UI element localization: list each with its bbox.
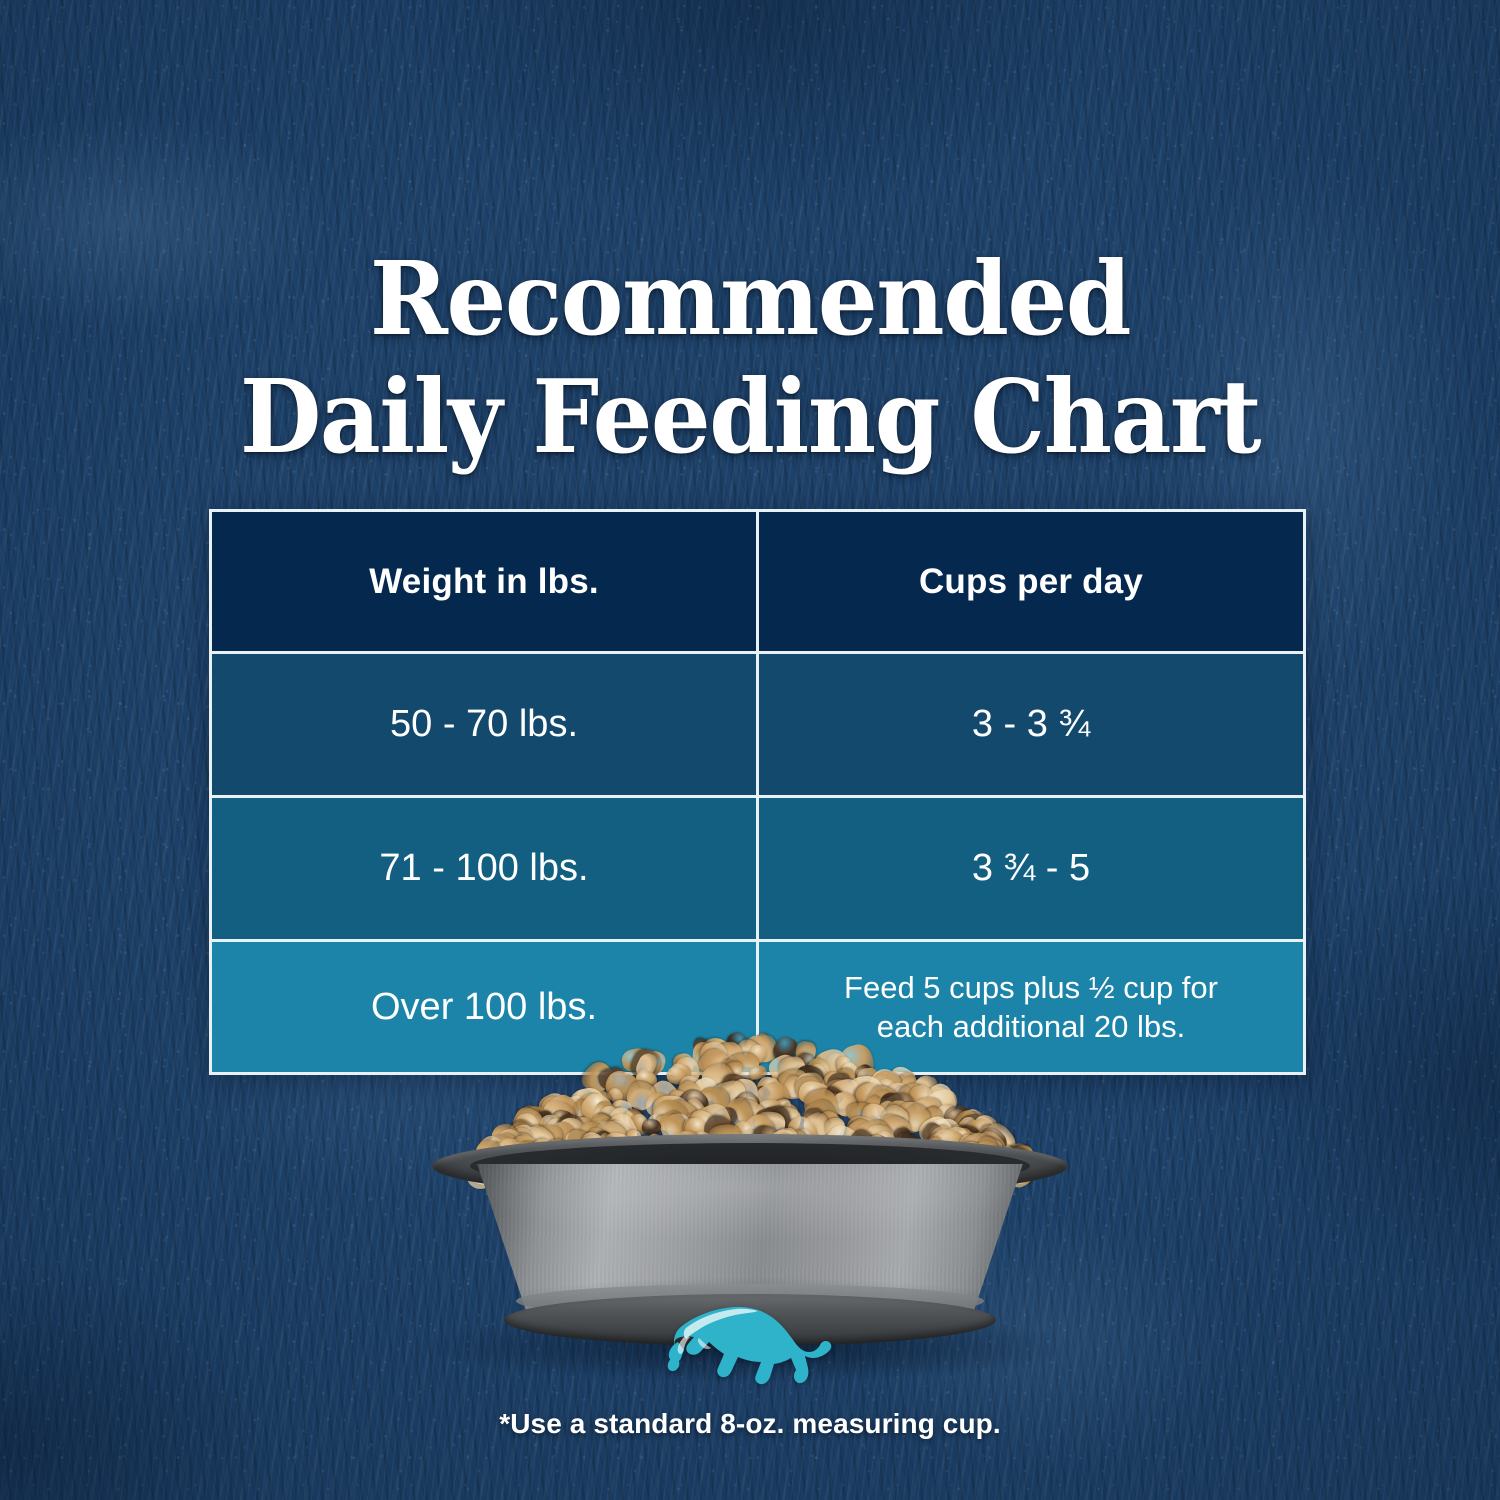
footnote-text: *Use a standard 8-oz. measuring cup.	[0, 1408, 1500, 1440]
cell-weight-range: 71 - 100 lbs.	[212, 798, 756, 939]
feeding-chart-graphic: Recommended Daily Feeding Chart Weight i…	[0, 0, 1500, 1500]
dog-bowl-product-image	[0, 1030, 1500, 1360]
page-title: Recommended Daily Feeding Chart	[53, 240, 1448, 476]
feeding-chart-table: Weight in lbs. Cups per day 50 - 70 lbs.…	[209, 509, 1306, 1075]
table-row: 71 - 100 lbs. 3 ¾ - 5	[212, 795, 1303, 939]
dog-bowl	[432, 1134, 1068, 1344]
header-weight: Weight in lbs.	[212, 512, 756, 651]
leaping-bison-icon	[658, 1292, 842, 1400]
cell-cups-per-day: 3 ¾ - 5	[756, 798, 1303, 939]
table-header-row: Weight in lbs. Cups per day	[212, 512, 1303, 651]
header-cups: Cups per day	[756, 512, 1303, 651]
cell-weight-range: 50 - 70 lbs.	[212, 654, 756, 795]
cell-cups-per-day: 3 - 3 ¾	[756, 654, 1303, 795]
table-row: 50 - 70 lbs. 3 - 3 ¾	[212, 651, 1303, 795]
